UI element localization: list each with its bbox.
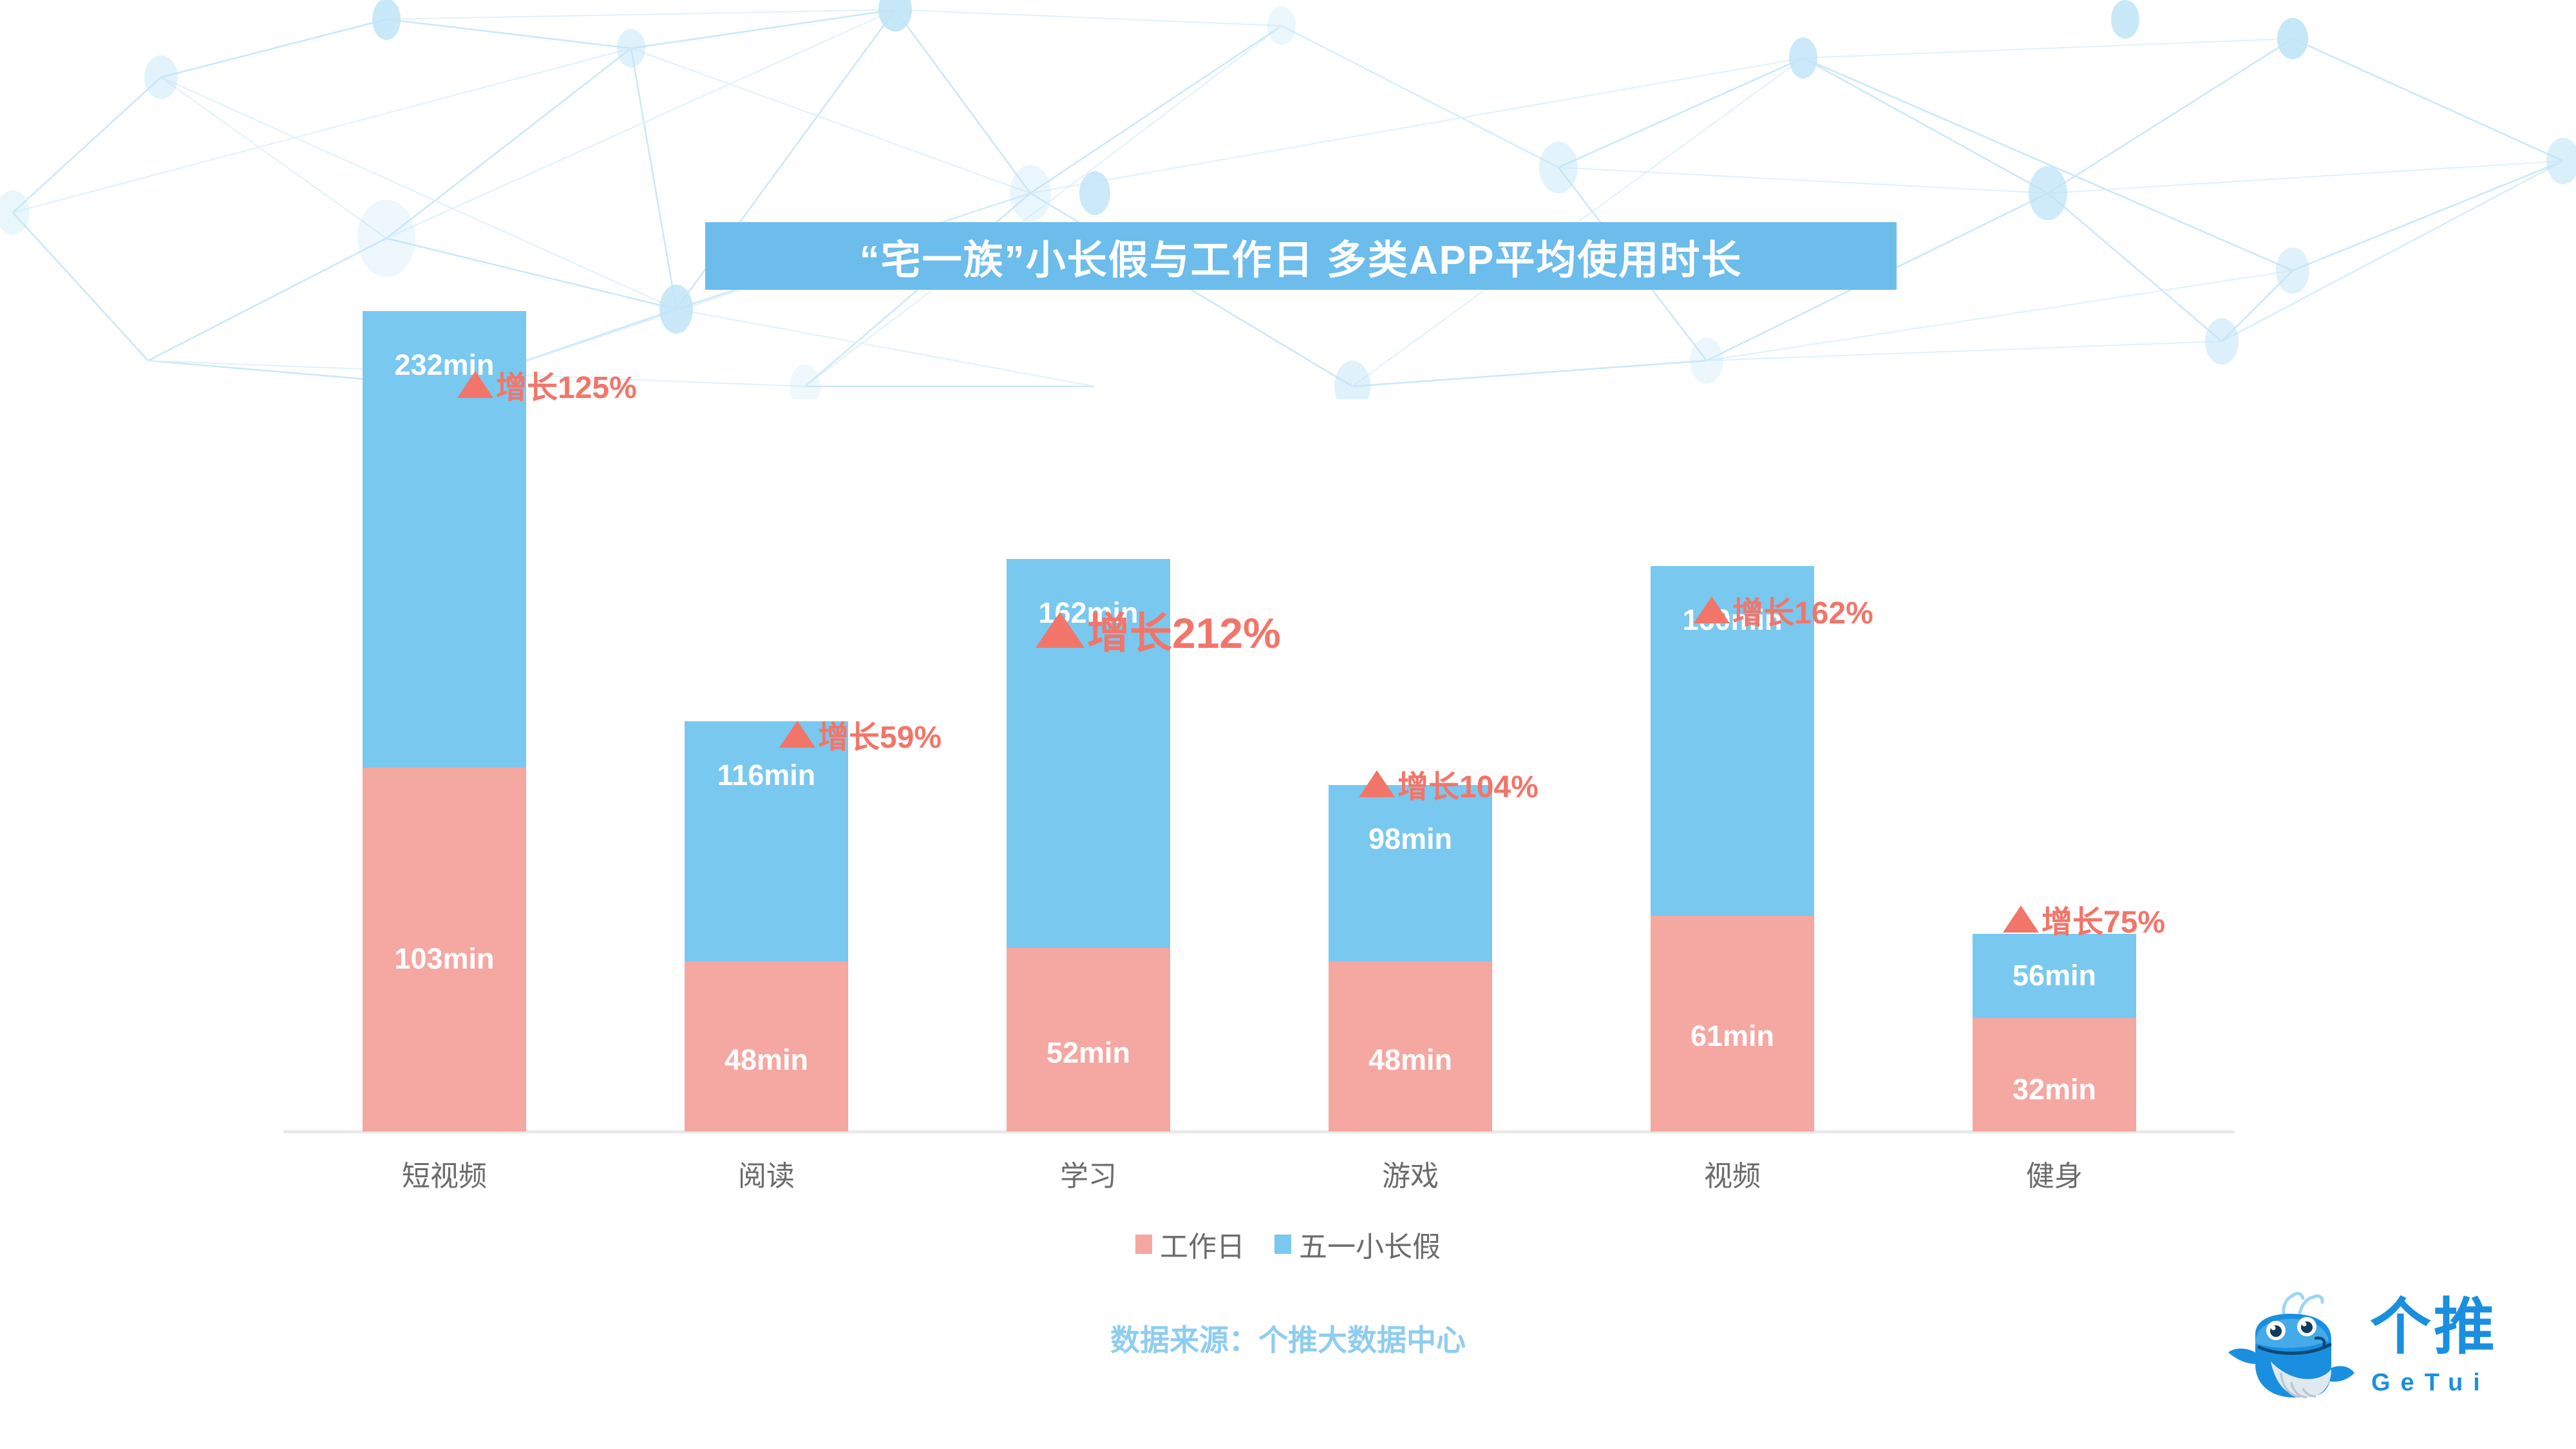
category-label-学习: 学习 — [1007, 1153, 1170, 1194]
chart-legend: 工作日 五一小长假 — [0, 1224, 2576, 1265]
growth-label-视频: 增长162% — [1732, 587, 1873, 632]
source-note: 数据来源：个推大数据中心 — [0, 1317, 2576, 1359]
value-label-weekday-游戏: 48min — [1329, 1043, 1492, 1077]
triangle-up-icon — [1694, 596, 1730, 623]
whale-mascot-icon — [2209, 1288, 2370, 1423]
growth-label-阅读: 增长59% — [818, 712, 942, 757]
growth-annotation-阅读: 增长59% — [779, 712, 942, 757]
growth-annotation-健身: 增长75% — [2003, 896, 2165, 942]
growth-label-短视频: 增长125% — [496, 362, 637, 407]
triangle-up-icon — [2003, 905, 2039, 933]
value-label-weekday-学习: 52min — [1007, 1036, 1170, 1070]
value-label-weekday-短视频: 103min — [363, 942, 526, 976]
triangle-up-icon — [1359, 770, 1395, 797]
bar-group-阅读[interactable]: 116min48min — [685, 721, 848, 1132]
value-label-weekday-健身: 32min — [1973, 1073, 2136, 1106]
triangle-up-icon — [457, 371, 493, 398]
growth-annotation-短视频: 增长125% — [457, 362, 637, 407]
growth-label-健身: 增长75% — [2041, 896, 2165, 942]
growth-label-游戏: 增长104% — [1397, 761, 1539, 806]
legend-swatch-weekday — [1135, 1235, 1152, 1254]
bar-group-视频[interactable]: 160min61min — [1651, 566, 1814, 1132]
value-label-weekday-视频: 61min — [1651, 1019, 1814, 1053]
category-label-阅读: 阅读 — [685, 1153, 848, 1194]
growth-label-学习: 增长212% — [1087, 599, 1281, 661]
growth-annotation-学习: 增长212% — [1036, 599, 1281, 661]
category-label-健身: 健身 — [1973, 1153, 2136, 1194]
x-axis-line — [283, 1130, 2235, 1133]
getui-logo: 个推 GeTui — [2209, 1288, 2544, 1433]
value-label-holiday-阅读: 116min — [685, 759, 848, 792]
legend-item-holiday[interactable]: 五一小长假 — [1274, 1224, 1441, 1265]
category-label-游戏: 游戏 — [1329, 1153, 1492, 1194]
legend-item-weekday[interactable]: 工作日 — [1135, 1224, 1245, 1265]
growth-annotation-游戏: 增长104% — [1359, 761, 1539, 806]
legend-swatch-holiday — [1274, 1235, 1291, 1254]
category-label-短视频: 短视频 — [363, 1153, 526, 1194]
bar-group-游戏[interactable]: 98min48min — [1329, 785, 1492, 1132]
value-label-holiday-游戏: 98min — [1329, 822, 1492, 856]
growth-annotation-视频: 增长162% — [1694, 587, 1873, 632]
bar-group-健身[interactable]: 56min32min — [1973, 934, 2136, 1132]
value-label-holiday-健身: 56min — [1973, 959, 2136, 992]
value-label-weekday-阅读: 48min — [685, 1043, 848, 1077]
logo-wordmark: 个推 — [2370, 1297, 2497, 1358]
legend-label-holiday: 五一小长假 — [1299, 1224, 1441, 1265]
category-label-视频: 视频 — [1651, 1153, 1814, 1194]
logo-subtext: GeTui — [2371, 1370, 2490, 1395]
legend-label-weekday: 工作日 — [1160, 1224, 1245, 1265]
triangle-up-icon — [1036, 612, 1084, 648]
triangle-up-icon — [779, 721, 815, 748]
bar-group-短视频[interactable]: 232min103min — [363, 311, 526, 1132]
